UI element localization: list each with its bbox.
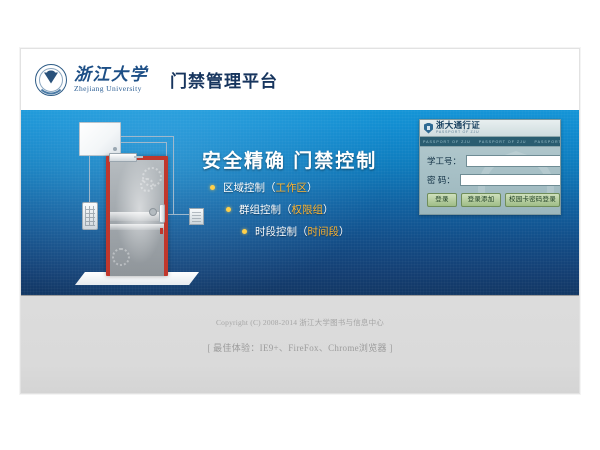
cable-icon [167, 214, 189, 215]
cable-icon [119, 136, 174, 137]
cable-icon [89, 154, 90, 202]
door-handle-icon [159, 204, 165, 223]
username-input[interactable] [466, 155, 561, 167]
bullet-dot-icon [242, 229, 247, 234]
feature-label: 时段控制（ [255, 224, 308, 239]
brand-text: 浙江大学 Zhejiang University [74, 66, 148, 93]
cable-icon [119, 142, 167, 143]
content-card: 浙江大学 Zhejiang University 门禁管理平台 [20, 48, 580, 394]
feature-tail: ） [307, 180, 318, 195]
field-password: 密 码： [427, 174, 553, 186]
site-footer: Copyright (C) 2008-2014 浙江大学图书与信息中心 [ 最佳… [21, 295, 579, 394]
password-label: 密 码： [427, 174, 455, 186]
feature-list: 区域控制（ 工作区 ） 群组控制（ 权限组 ） 时段控制（ 时间段 ） [210, 180, 350, 246]
login-panel: 浙大通行证 PASSPORT OF ZJU PASSPORT OF ZJU PA… [419, 119, 561, 215]
status-led-icon [160, 228, 163, 234]
login-form: 学工号： 密 码： 登录 登录添加 校园卡密码登录 [420, 147, 560, 214]
login-panel-stripe: PASSPORT OF ZJU PASSPORT OF ZJU PASSPORT… [420, 137, 560, 147]
stripe-text: PASSPORT OF ZJU [479, 140, 527, 144]
door-panel [110, 160, 164, 276]
feature-tail: ） [339, 224, 350, 239]
hero-banner: 安全精确 门禁控制 区域控制（ 工作区 ） 群组控制（ 权限组 ） 时段控制（ [21, 110, 579, 295]
login-add-button[interactable]: 登录添加 [461, 193, 501, 207]
page-title: 门禁管理平台 [170, 67, 278, 92]
brand-name-cn: 浙江大学 [74, 66, 148, 83]
feature-tail: ） [323, 202, 334, 217]
bullet-dot-icon [226, 207, 231, 212]
site-header: 浙江大学 Zhejiang University 门禁管理平台 [21, 49, 579, 110]
bullet-dot-icon [210, 185, 215, 190]
username-label: 学工号： [427, 155, 461, 167]
feature-highlight: 权限组 [292, 202, 324, 217]
feature-label: 群组控制（ [239, 202, 292, 217]
shield-icon [424, 123, 433, 134]
login-panel-title: 浙大通行证 [436, 121, 480, 130]
feature-highlight: 工作区 [276, 180, 308, 195]
list-item: 时段控制（ 时间段 ） [242, 224, 350, 239]
stripe-text: PASSPORT OF ZJU [423, 140, 471, 144]
card-reader-icon [189, 208, 204, 225]
page-root: 浙江大学 Zhejiang University 门禁管理平台 [0, 0, 600, 450]
login-button[interactable]: 登录 [427, 193, 457, 207]
login-panel-header: 浙大通行证 PASSPORT OF ZJU [420, 120, 560, 137]
site-logo[interactable]: 浙江大学 Zhejiang University [35, 64, 148, 96]
list-item: 区域控制（ 工作区 ） [210, 180, 350, 195]
password-input[interactable] [460, 174, 561, 186]
field-username: 学工号： [427, 155, 553, 167]
cable-icon [173, 136, 174, 214]
controller-box-icon [79, 122, 121, 156]
keypad-reader-icon [82, 202, 98, 230]
list-item: 群组控制（ 权限组 ） [226, 202, 350, 217]
gear-icon [140, 178, 154, 192]
door-closer-icon [109, 153, 137, 162]
gear-icon [112, 248, 130, 266]
login-button-row: 登录 登录添加 校园卡密码登录 [427, 193, 553, 207]
feature-label: 区域控制（ [223, 180, 276, 195]
university-seal-icon [35, 64, 67, 96]
door-knob-icon [149, 208, 157, 216]
banner-slogan: 安全精确 门禁控制 [202, 146, 377, 173]
browser-support-text: [ 最佳体验：IE9+、FireFox、Chrome浏览器 ] [21, 328, 579, 354]
login-panel-subtitle: PASSPORT OF ZJU [436, 131, 480, 135]
copyright-text: Copyright (C) 2008-2014 浙江大学图书与信息中心 [21, 296, 579, 328]
brand-name-en: Zhejiang University [74, 85, 148, 93]
door-access-control-illustration [63, 116, 208, 291]
stripe-text: PASSPORT OF ZJU [535, 140, 561, 144]
card-password-login-button[interactable]: 校园卡密码登录 [505, 193, 560, 207]
feature-highlight: 时间段 [308, 224, 340, 239]
